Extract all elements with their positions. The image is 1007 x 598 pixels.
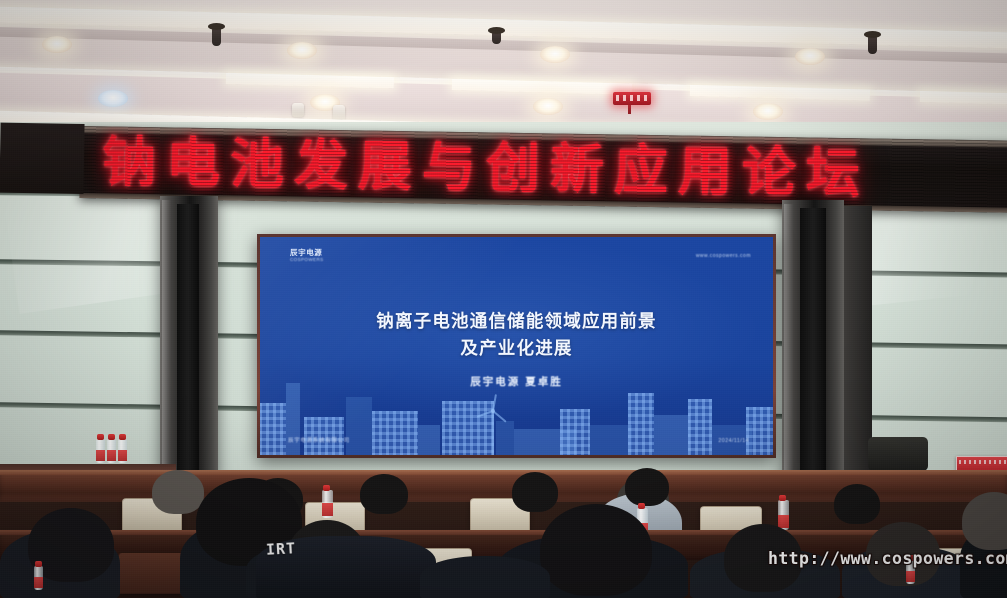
conference-hall-photo: 钠电池发展与创新应用论坛 [0,0,1007,598]
skyline-building [346,397,372,455]
ceiling-downlight [795,48,825,65]
bottle-cap [97,434,104,440]
bottle-cap [35,561,42,567]
ceiling-fixture [492,32,501,44]
bottle-cap [779,495,786,501]
bottle-label [34,577,43,588]
jacket-print-text: IRT [266,539,297,559]
water-bottle [322,490,333,518]
ceiling [0,0,1007,128]
ceiling-downlight [42,36,72,53]
slide-logo-sub: COSPOWERS [290,258,324,263]
slide-surface: 辰宇电源 COSPOWERS www.cospowers.com 钠离子电池通信… [260,237,773,455]
slide-company-footer: 辰宇电源系统有限公司 [288,436,350,444]
water-bottle [118,439,127,463]
slide-title-line1: 钠离子电池通信储能领域应用前景 [260,309,773,336]
skyline-building [260,403,286,455]
stage-chair [868,437,928,471]
slide-logo: 辰宇电源 COSPOWERS [290,249,324,263]
slide-date: 2024/11/14 [718,438,749,444]
slide-url: www.cospowers.com [696,253,751,259]
projection-screen: 辰宇电源 COSPOWERS www.cospowers.com 钠离子电池通信… [257,234,776,458]
audience-person-body [420,556,550,598]
speaker-column-right [782,200,844,490]
skyline-building [442,401,494,455]
audience-chair [118,552,184,594]
water-bottle [778,500,789,530]
bottle-label [778,515,789,529]
audience-head [540,504,652,596]
slide-presenter: 辰宇电源 夏卓胜 [260,374,773,389]
water-bottle [96,439,105,463]
audience-head [512,472,558,512]
sprinkler-head [292,103,304,117]
ceiling-downlight [287,42,317,59]
desk-surface [0,470,1007,475]
wind-turbine-pole [492,411,494,455]
led-banner: 钠电池发展与创新应用论坛 [79,126,1007,213]
skyline-building [688,399,712,455]
fire-exit-sign [613,92,651,105]
ceiling-downlight [540,46,570,63]
skyline-building [286,383,300,455]
bottle-label [118,450,127,461]
audience-head [360,474,408,514]
bottle-cap [638,503,645,509]
speaker-column-left [160,196,218,480]
skyline-building [590,425,632,455]
site-watermark: http://www.cospowers.com/ [768,549,1007,568]
speaker-grille [800,208,826,482]
bottle-cap [108,434,115,440]
skyline-building [372,411,418,455]
bottle-label [107,450,116,461]
speaker-grille [177,204,199,472]
sign-stem [628,104,631,114]
slide-title: 钠离子电池通信储能领域应用前景 及产业化进展 [260,309,773,363]
wind-turbine-blade [492,394,497,411]
water-bottle [107,439,116,463]
slide-title-line2: 及产业化进展 [260,336,773,363]
ceiling-downlight [753,103,783,120]
audience-head [834,484,880,524]
bottle-label [906,571,915,582]
skyline-building [560,409,590,455]
skyline-building [654,415,690,455]
ceiling-downlight [98,90,128,107]
skyline-building [418,425,440,455]
bottle-cap [323,485,330,491]
speaker-sheen [784,204,798,480]
ceiling-fixture [868,36,877,54]
skyline-building [628,393,654,455]
slide-logo-main: 辰宇电源 [290,249,324,257]
audience-head [152,470,204,514]
speaker-sheen [162,200,175,470]
bottle-label [322,503,333,516]
skyline-building [496,421,514,455]
skyline-building [746,407,773,455]
ceiling-downlight [533,98,563,115]
water-bottle [34,566,43,590]
banner-left-panel [0,123,85,194]
bottle-cap [119,434,126,440]
audience-head [625,468,669,506]
desk-surface [0,530,1007,535]
bottle-label [96,450,105,461]
ceiling-fixture [212,28,221,46]
